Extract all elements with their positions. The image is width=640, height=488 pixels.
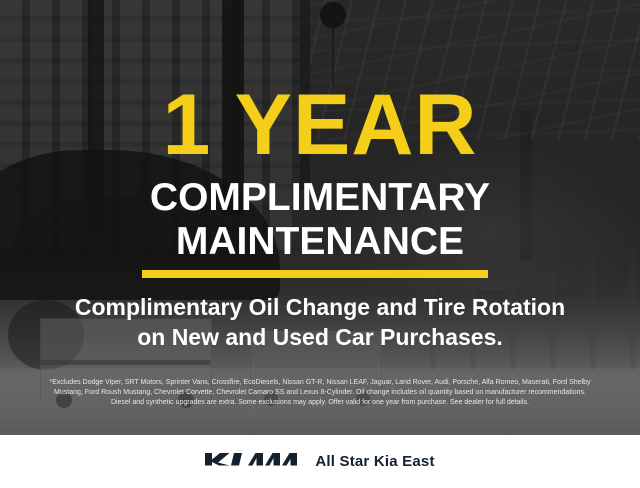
promotional-banner: 1 YEAR COMPLIMENTARY MAINTENANCE Complim… xyxy=(0,0,640,488)
banner-content: 1 YEAR COMPLIMENTARY MAINTENANCE Complim… xyxy=(0,0,640,435)
kia-logo-icon xyxy=(205,447,297,476)
disclaimer-text: *Excludes Dodge Viper, SRT Motors, Sprin… xyxy=(12,378,628,408)
tagline-line-2: on New and Used Car Purchases. xyxy=(0,324,640,351)
yellow-divider-bar xyxy=(142,270,488,278)
tagline-line-1: Complimentary Oil Change and Tire Rotati… xyxy=(0,294,640,321)
disclaimer-line-2: Mustang, Ford Roush Mustang, Chevrolet C… xyxy=(12,388,628,398)
headline-complimentary: COMPLIMENTARY xyxy=(0,178,640,217)
dealer-logo-lockup[interactable]: All Star Kia East xyxy=(205,447,434,476)
dealer-footer-bar: All Star Kia East xyxy=(0,435,640,488)
dealer-name-label: All Star Kia East xyxy=(315,453,434,470)
headline-year: 1 YEAR xyxy=(0,82,640,168)
disclaimer-line-1: *Excludes Dodge Viper, SRT Motors, Sprin… xyxy=(12,378,628,388)
headline-maintenance: MAINTENANCE xyxy=(0,222,640,261)
disclaimer-line-3: Diesel and synthetic upgrades are extra.… xyxy=(12,398,628,408)
